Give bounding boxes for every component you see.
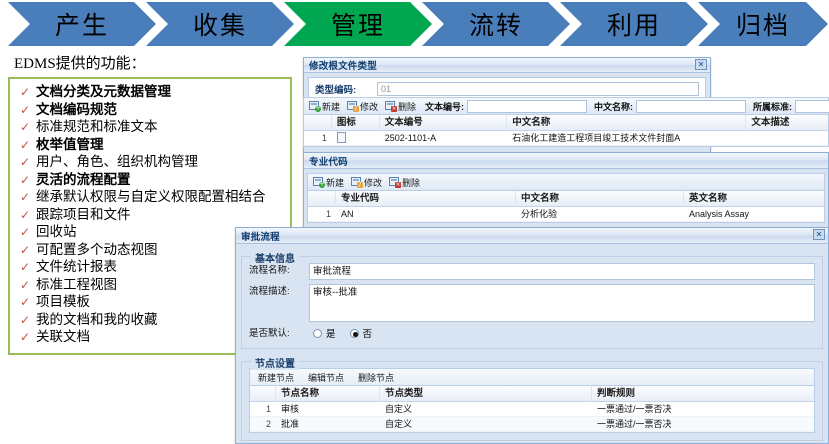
list-item: ✓ 标准规范和标准文本 xyxy=(14,119,286,136)
basic-info-fieldset: 基本信息 流程名称: 审批流程 流程描述: 审核--批准 是否默认: 是 否 xyxy=(241,256,823,349)
node-grid[interactable]: 节点名称 节点类型 判断规则 1 审核 自定义 一票通过/一票否决 2 批准 自… xyxy=(249,385,815,433)
filter-input[interactable] xyxy=(636,100,746,113)
filter-cn-name: 中文名称: xyxy=(594,100,746,113)
root-file-type-toolbar: + 新建 / 修改 × 删除 文本编号: 中文名称: 所属标准: 图标 文本编号 xyxy=(303,97,829,147)
list-item-label: 灵活的流程配置 xyxy=(36,172,286,189)
step-chevron-0[interactable]: 产生 xyxy=(8,2,156,46)
step-label: 管理 xyxy=(331,6,385,42)
radio-yes-label: 是 xyxy=(326,326,336,340)
cell-node-type: 自定义 xyxy=(380,402,592,417)
new-button-label: 新建 xyxy=(326,176,344,189)
cell-name-cn: 分析化验 xyxy=(516,207,684,222)
cell-code: AN xyxy=(336,207,516,222)
delete-x-icon: × xyxy=(385,101,396,111)
cell-name-en: Analysis Assay xyxy=(684,207,824,222)
check-icon: ✓ xyxy=(14,259,36,276)
close-icon[interactable]: ✕ xyxy=(695,59,707,70)
flow-name-label: 流程名称: xyxy=(249,263,309,278)
list-item-label: 文档编码规范 xyxy=(36,102,286,119)
node-toolbar: 新建节点 编辑节点 删除节点 xyxy=(249,368,815,385)
delete-node-button[interactable]: 删除节点 xyxy=(356,371,396,384)
list-item-label: 跟踪项目和文件 xyxy=(36,207,286,224)
check-icon: ✓ xyxy=(14,329,36,346)
list-item-label: 文档分类及元数据管理 xyxy=(36,84,286,101)
check-icon: ✓ xyxy=(14,172,36,189)
list-item-label: 标准规范和标准文本 xyxy=(36,119,286,136)
edms-heading: EDMS提供的功能： xyxy=(14,52,296,73)
filter-label: 中文名称: xyxy=(594,100,633,113)
check-icon: ✓ xyxy=(14,224,36,241)
radio-icon-selected xyxy=(350,329,359,338)
radio-no[interactable]: 否 xyxy=(350,326,373,340)
cell-node-type: 自定义 xyxy=(380,417,592,432)
column-header: 图标 xyxy=(332,115,380,131)
new-document-icon: + xyxy=(309,101,320,111)
cell-node-rule: 一票通过/一票否决 xyxy=(592,417,752,432)
column-header xyxy=(304,115,332,131)
step-label: 归档 xyxy=(736,6,790,42)
check-icon: ✓ xyxy=(14,102,36,119)
list-item: ✓ 灵活的流程配置 xyxy=(14,172,286,189)
filter-input[interactable] xyxy=(467,100,587,113)
flow-desc-label: 流程描述: xyxy=(249,284,309,299)
node-settings-fieldset: 节点设置 新建节点 编辑节点 删除节点 节点名称 节点类型 判断规则 1 审核 … xyxy=(241,361,823,441)
document-icon xyxy=(332,131,380,146)
type-code-label: 类型编码: xyxy=(315,82,377,96)
root-file-type-grid[interactable]: 图标 文本编号 中文名称 文本描述 1 2502-1101-A 石油化工建造工程… xyxy=(303,114,829,147)
list-item: ✓ 继承默认权限与自定义权限配置相结合 xyxy=(14,189,286,206)
edit-button-label: 修改 xyxy=(364,176,382,189)
radio-no-label: 否 xyxy=(363,326,373,340)
check-icon: ✓ xyxy=(14,312,36,329)
row-number: 1 xyxy=(250,402,276,417)
row-number: 1 xyxy=(308,207,336,222)
dialog-body: + 新建 / 修改 × 删除 专业代码 中文名称 英文名称 1 AN 分析 xyxy=(304,169,828,227)
check-icon: ✓ xyxy=(14,207,36,224)
edit-button[interactable]: / 修改 xyxy=(345,100,380,113)
column-header: 判断规则 xyxy=(592,386,752,402)
check-icon: ✓ xyxy=(14,294,36,311)
edit-pencil-icon: / xyxy=(347,101,358,111)
step-label: 利用 xyxy=(607,6,661,42)
process-step-banner: 产生 收集 管理 流转 利用 归档 xyxy=(0,2,829,48)
step-label: 流转 xyxy=(469,6,523,42)
column-header: 英文名称 xyxy=(684,191,824,207)
check-icon: ✓ xyxy=(14,242,36,259)
step-chevron-3[interactable]: 流转 xyxy=(422,2,570,46)
delete-x-icon: × xyxy=(389,177,400,187)
edit-button[interactable]: / 修改 xyxy=(349,176,384,189)
step-chevron-4[interactable]: 利用 xyxy=(560,2,708,46)
filter-text-code: 文本编号: xyxy=(425,100,587,113)
is-default-row: 是否默认: 是 否 xyxy=(249,326,815,341)
delete-button[interactable]: × 删除 xyxy=(383,100,418,113)
column-header xyxy=(308,191,336,207)
list-item: ✓ 跟踪项目和文件 xyxy=(14,207,286,224)
is-default-label: 是否默认: xyxy=(249,326,309,341)
toolbar: + 新建 / 修改 × 删除 文本编号: 中文名称: 所属标准: xyxy=(303,97,829,114)
delete-button[interactable]: × 删除 xyxy=(387,176,422,189)
filter-label: 文本编号: xyxy=(425,100,464,113)
column-header: 文本描述 xyxy=(746,115,828,131)
fieldset-legend: 基本信息 xyxy=(251,250,299,265)
check-icon: ✓ xyxy=(14,277,36,294)
radio-icon xyxy=(313,329,322,338)
column-header: 节点类型 xyxy=(380,386,592,402)
new-node-button[interactable]: 新建节点 xyxy=(256,371,296,384)
step-chevron-5[interactable]: 归档 xyxy=(698,2,828,46)
table-row[interactable]: 1 2502-1101-A 石油化工建造工程项目竣工技术文件封面A xyxy=(304,131,828,146)
table-row[interactable]: 2 批准 自定义 一票通过/一票否决 xyxy=(250,417,814,432)
check-icon: ✓ xyxy=(14,154,36,171)
column-header: 节点名称 xyxy=(276,386,380,402)
grid-header: 专业代码 中文名称 英文名称 xyxy=(308,191,824,207)
column-header: 文本编号 xyxy=(380,115,508,131)
cell-code: 2502-1101-A xyxy=(380,131,508,146)
new-document-icon: + xyxy=(313,177,324,187)
dialog-title: 修改根文件类型 xyxy=(309,58,377,72)
step-label: 产生 xyxy=(55,6,109,42)
row-number: 1 xyxy=(304,131,332,146)
close-icon[interactable]: ✕ xyxy=(813,229,825,240)
delete-button-label: 删除 xyxy=(402,176,420,189)
type-code-input[interactable]: 01 xyxy=(377,82,699,96)
check-icon: ✓ xyxy=(14,119,36,136)
edit-button-label: 修改 xyxy=(360,100,378,113)
cell-node-name: 批准 xyxy=(276,417,380,432)
column-header: 中文名称 xyxy=(507,115,746,131)
dialog-title: 审批流程 xyxy=(241,229,280,243)
new-button[interactable]: + 新建 xyxy=(307,100,342,113)
filter-label: 所属标准: xyxy=(753,100,792,113)
row-number: 2 xyxy=(250,417,276,432)
step-label: 收集 xyxy=(193,6,247,42)
list-item-label: 枚举值管理 xyxy=(36,137,286,154)
check-icon: ✓ xyxy=(14,84,36,101)
filter-standard: 所属标准: xyxy=(753,100,829,113)
check-icon: ✓ xyxy=(14,137,36,154)
grid-header: 图标 文本编号 中文名称 文本描述 xyxy=(304,115,828,131)
is-default-radio-group: 是 否 xyxy=(309,326,372,340)
new-button-label: 新建 xyxy=(322,100,340,113)
table-row[interactable]: 1 审核 自定义 一票通过/一票否决 xyxy=(250,402,814,417)
table-row[interactable]: 1 AN 分析化验 Analysis Assay xyxy=(308,207,824,222)
edit-pencil-icon: / xyxy=(351,177,362,187)
dialog-title: 专业代码 xyxy=(309,154,348,168)
filter-input[interactable] xyxy=(795,100,829,113)
flow-name-input[interactable]: 审批流程 xyxy=(309,263,815,280)
column-header xyxy=(250,386,276,402)
new-button[interactable]: + 新建 xyxy=(311,176,346,189)
list-item: ✓ 文档分类及元数据管理 xyxy=(14,84,286,101)
dialog-approval-flow[interactable]: 审批流程 ✕ 基本信息 流程名称: 审批流程 流程描述: 审核--批准 是否默认… xyxy=(235,227,829,444)
flow-name-row: 流程名称: 审批流程 xyxy=(249,263,815,280)
step-chevron-1[interactable]: 收集 xyxy=(146,2,294,46)
list-item-label: 继承默认权限与自定义权限配置相结合 xyxy=(36,189,286,206)
cell-node-name: 审核 xyxy=(276,402,380,417)
dialog-title-bar: 专业代码 xyxy=(304,153,828,169)
list-item: ✓ 文档编码规范 xyxy=(14,102,286,119)
flow-desc-row: 流程描述: 审核--批准 xyxy=(249,284,815,322)
list-item: ✓ 枚举值管理 xyxy=(14,137,286,154)
step-chevron-2[interactable]: 管理 xyxy=(284,2,432,46)
dialog-title-bar: 修改根文件类型 ✕ xyxy=(304,58,710,73)
flow-desc-textarea[interactable]: 审核--批准 xyxy=(309,284,815,322)
list-item-label: 用户、角色、组织机构管理 xyxy=(36,154,286,171)
fieldset-legend: 节点设置 xyxy=(251,355,299,370)
column-header: 专业代码 xyxy=(336,191,516,207)
dialog-title-bar: 审批流程 ✕ xyxy=(236,228,828,244)
column-header: 中文名称 xyxy=(516,191,684,207)
edit-node-button[interactable]: 编辑节点 xyxy=(306,371,346,384)
check-icon: ✓ xyxy=(14,189,36,206)
list-item: ✓ 用户、角色、组织机构管理 xyxy=(14,154,286,171)
cell-desc xyxy=(746,131,828,146)
delete-button-label: 删除 xyxy=(398,100,416,113)
cell-name: 石油化工建造工程项目竣工技术文件封面A xyxy=(507,131,746,146)
toolbar: + 新建 / 修改 × 删除 xyxy=(307,173,825,190)
grid-header: 节点名称 节点类型 判断规则 xyxy=(250,386,814,402)
cell-node-rule: 一票通过/一票否决 xyxy=(592,402,752,417)
radio-yes[interactable]: 是 xyxy=(313,326,336,340)
major-code-grid[interactable]: 专业代码 中文名称 英文名称 1 AN 分析化验 Analysis Assay xyxy=(307,190,825,223)
